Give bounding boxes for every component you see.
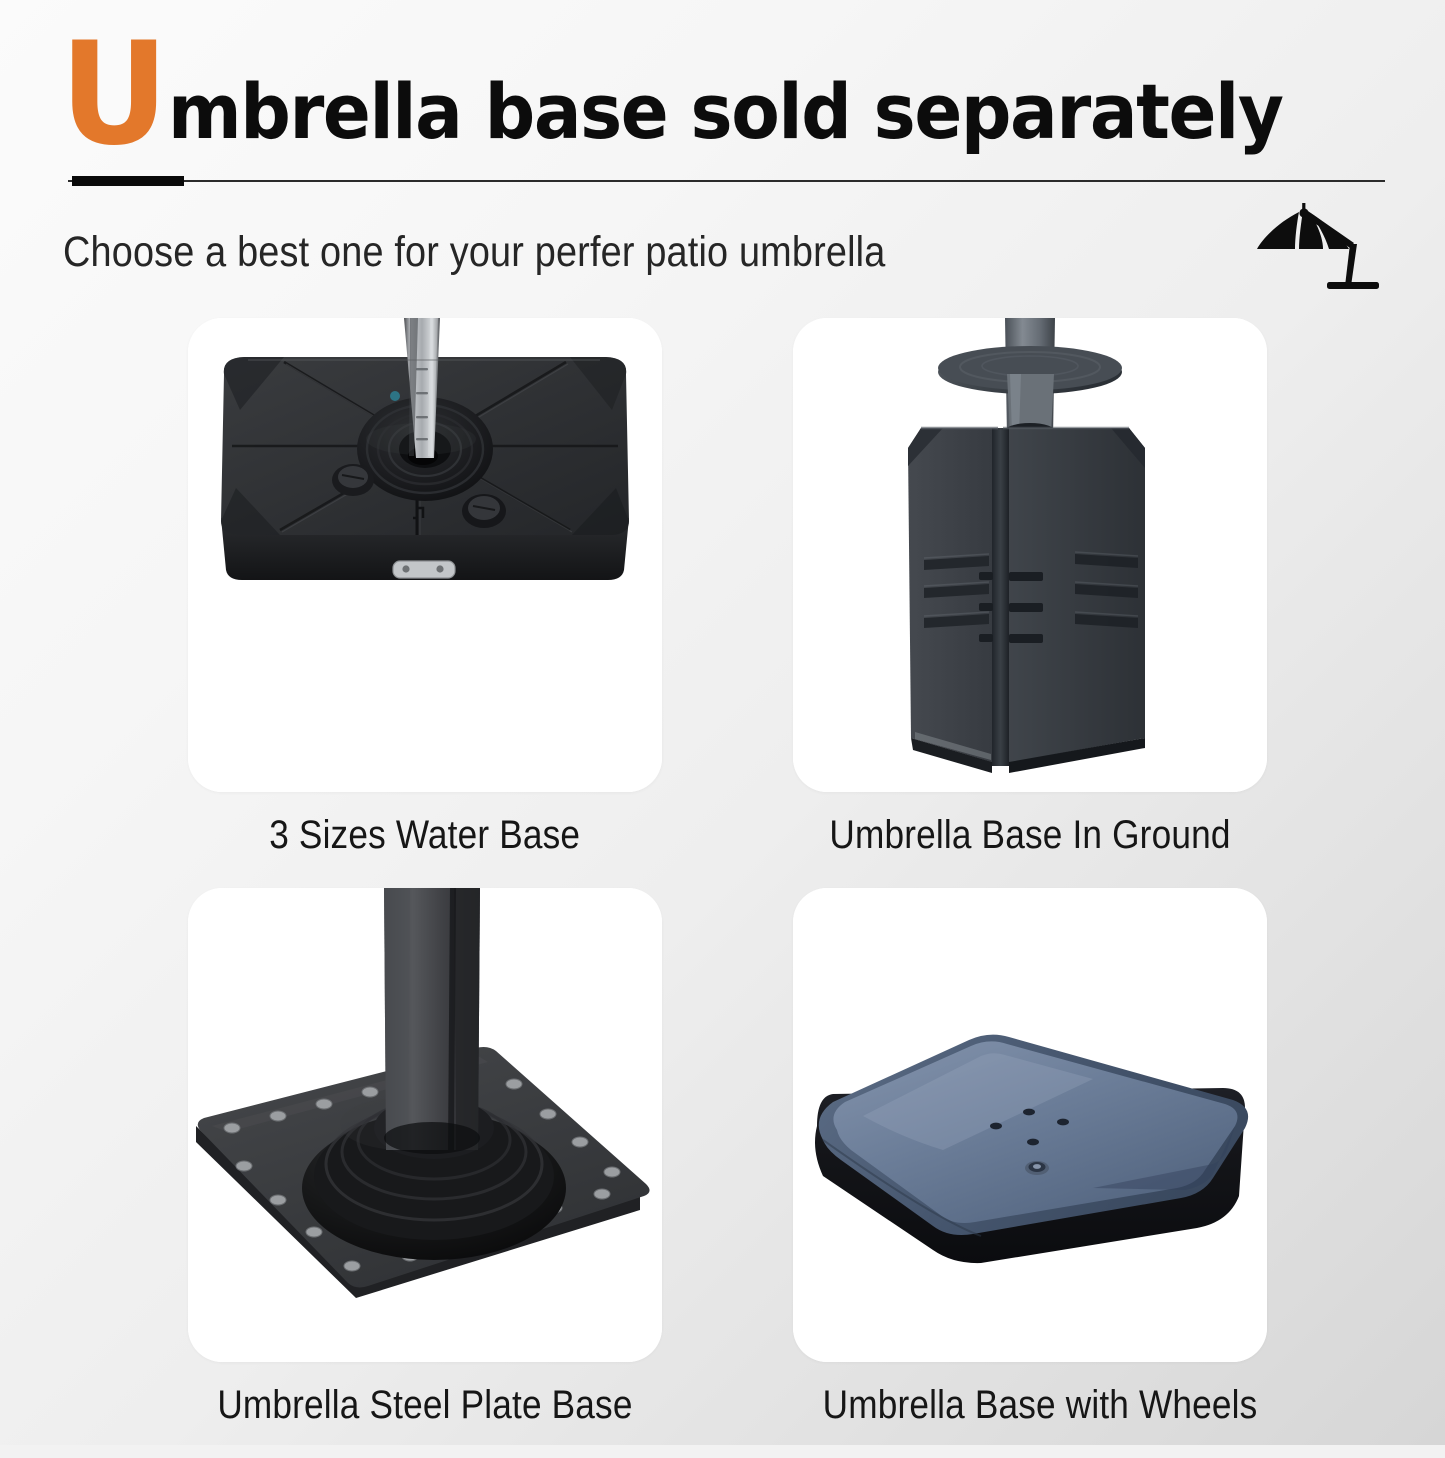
page-title: U mbrella base sold separately (60, 40, 1367, 151)
divider-accent-bar (72, 176, 184, 186)
divider-thin-line (68, 180, 1385, 182)
product-caption: Umbrella Steel Plate Base (188, 1383, 662, 1428)
title-divider (60, 176, 1385, 186)
header: U mbrella base sold separately Choose a … (0, 0, 1445, 200)
product-caption: Umbrella Base with Wheels (793, 1383, 1267, 1428)
product-card-wheeled-base[interactable]: Umbrella Base with Wheels (793, 888, 1267, 1428)
patio-umbrella-icon (1251, 200, 1383, 292)
in-ground-base-photo (793, 318, 1267, 792)
subtitle: Choose a best one for your perfer patio … (63, 228, 885, 277)
poster-canvas: U mbrella base sold separately Choose a … (0, 0, 1445, 1445)
title-text: mbrella base sold separately (168, 76, 1283, 151)
product-caption: Umbrella Base In Ground (793, 813, 1267, 858)
title-drop-cap: U (60, 40, 166, 151)
product-card-steel-plate-base[interactable]: Umbrella Steel Plate Base (188, 888, 662, 1428)
wheeled-base-photo (793, 888, 1267, 1362)
product-card-in-ground-base[interactable]: Umbrella Base In Ground (793, 318, 1267, 858)
product-row-2: Umbrella Steel Plate Base (0, 888, 1445, 1458)
steel-plate-base-photo (188, 888, 662, 1362)
product-grid: 3 Sizes Water Base (0, 318, 1445, 1458)
water-base-photo (188, 318, 662, 792)
product-row-1: 3 Sizes Water Base (0, 318, 1445, 888)
product-card-water-base[interactable]: 3 Sizes Water Base (188, 318, 662, 858)
product-caption: 3 Sizes Water Base (188, 813, 662, 858)
